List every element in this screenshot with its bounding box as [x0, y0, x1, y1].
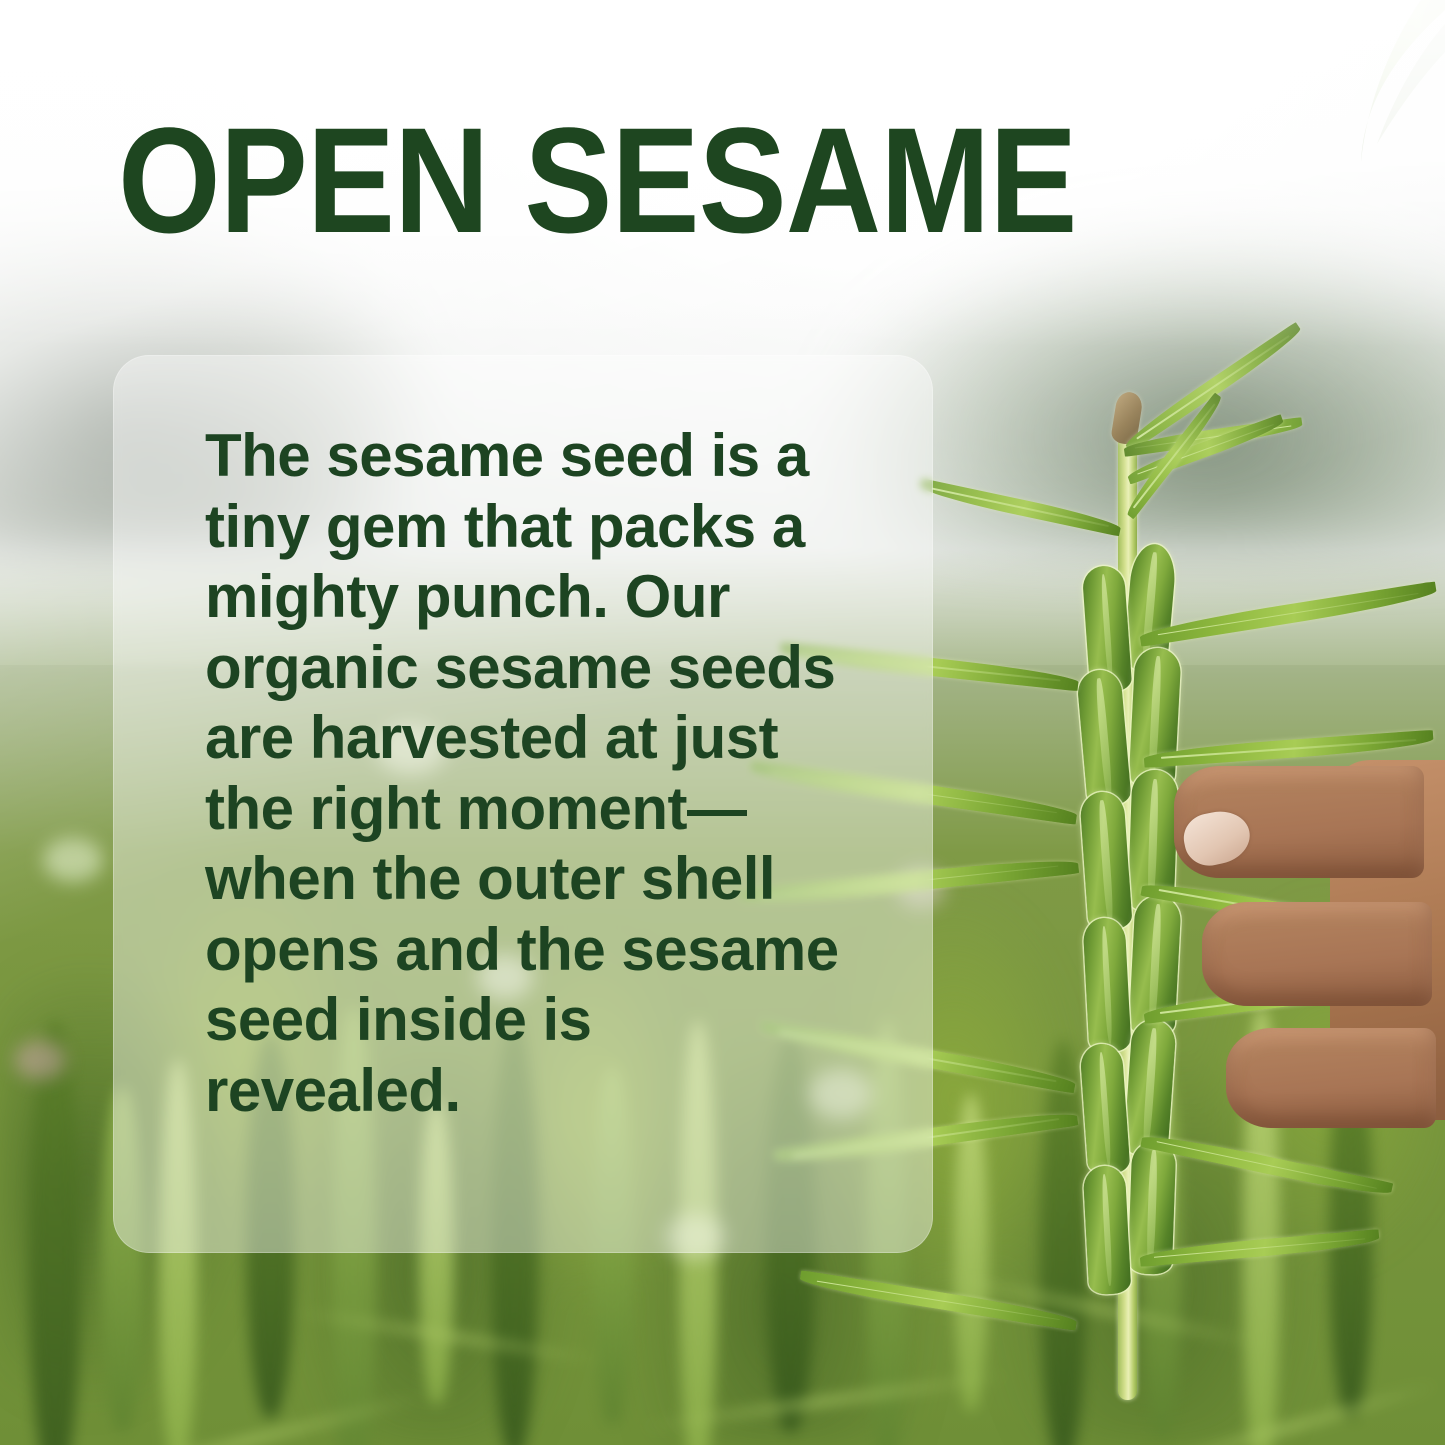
card-body-text: The sesame seed is a tiny gem that packs… [205, 421, 845, 1126]
ring-finger [1226, 1028, 1436, 1128]
poster-canvas: OPEN SESAME The sesame seed is a tiny ge… [0, 0, 1445, 1445]
page-title: OPEN SESAME [118, 104, 1077, 257]
middle-finger [1202, 902, 1432, 1006]
leaf [1139, 1229, 1380, 1267]
hand-holding-stem [1160, 760, 1445, 1190]
leaf-tip-icon [1305, 0, 1445, 164]
seed-pod [1083, 1165, 1132, 1295]
seed-pod [1083, 917, 1132, 1053]
text-card: The sesame seed is a tiny gem that packs… [113, 355, 933, 1253]
seed-pod [1080, 1043, 1131, 1176]
leaf [1139, 581, 1438, 647]
